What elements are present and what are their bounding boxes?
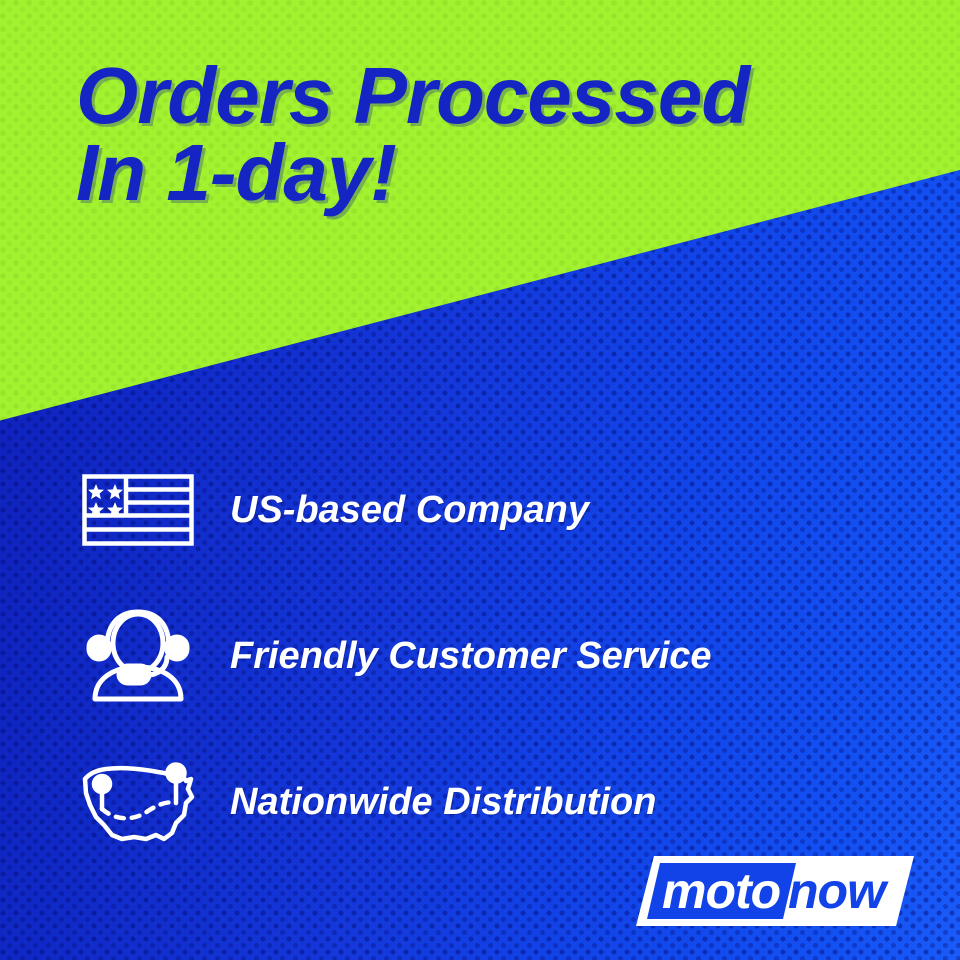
logo-text-moto: moto — [662, 863, 780, 919]
us-map-pins-icon — [72, 750, 204, 854]
list-item-label: Nationwide Distribution — [230, 781, 656, 824]
us-flag-icon — [72, 458, 204, 562]
motonow-logo[interactable]: moto now — [636, 856, 914, 926]
list-item-label: Friendly Customer Service — [230, 635, 712, 678]
list-item: Friendly Customer Service — [72, 583, 892, 729]
logo-text-now: now — [788, 863, 889, 919]
list-item: US-based Company — [72, 437, 892, 583]
promo-banner: Orders Processed In 1-day! — [0, 0, 960, 960]
feature-list: US-based Company — [72, 437, 892, 875]
list-item-label: US-based Company — [230, 489, 589, 532]
list-item: Nationwide Distribution — [72, 729, 892, 875]
headset-agent-icon — [72, 604, 204, 708]
page-title: Orders Processed In 1-day! — [76, 58, 906, 212]
